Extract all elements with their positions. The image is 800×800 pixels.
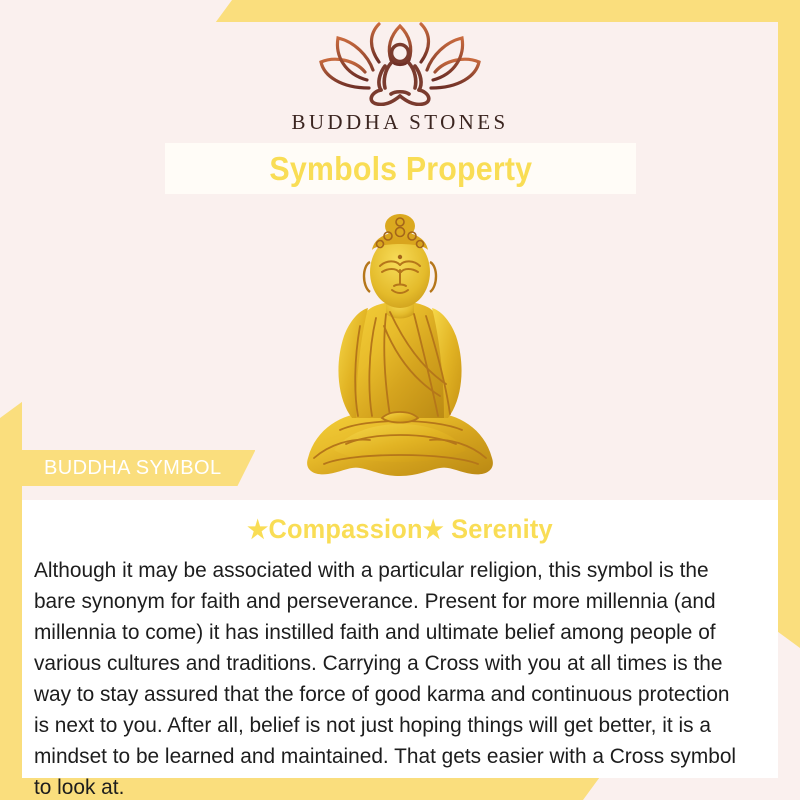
attributes-subtitle: ★Compassion★ Serenity: [54, 514, 746, 545]
poster-page: BUDDHA STONES Symbols Property: [0, 0, 800, 800]
attribute-compassion: Compassion: [268, 514, 422, 544]
attribute-serenity: Serenity: [444, 514, 553, 544]
symbol-category-ribbon: BUDDHA SYMBOL: [22, 450, 255, 486]
title-plate: Symbols Property: [165, 143, 636, 194]
brand-name: BUDDHA STONES: [291, 110, 508, 135]
brand-header: BUDDHA STONES: [0, 18, 800, 135]
hero-buddha-image: [290, 200, 510, 490]
ribbon-label: BUDDHA SYMBOL: [44, 457, 221, 480]
description-paragraph: Although it may be associated with a par…: [32, 555, 746, 800]
star-icon-right: ★: [423, 516, 444, 544]
lotus-meditation-logo-icon: [305, 18, 495, 106]
star-icon-left: ★: [247, 516, 268, 544]
page-title: Symbols Property: [269, 150, 532, 188]
content-card: ★Compassion★ Serenity Although it may be…: [22, 500, 778, 778]
